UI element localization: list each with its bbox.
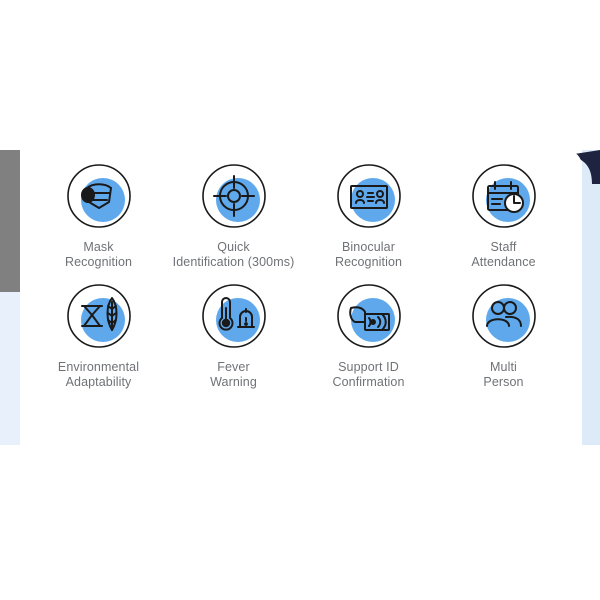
feature-card: Mask RecognitionQuick Identification (30… <box>20 150 582 445</box>
id-card-people-icon <box>335 162 403 230</box>
feature-label: Binocular Recognition <box>335 240 402 270</box>
feature-label: Environmental Adaptability <box>58 360 139 390</box>
right-blue-edge-bar <box>582 150 600 445</box>
feature-item[interactable]: Staff Attendance <box>436 162 571 270</box>
feature-label: Multi Person <box>483 360 523 390</box>
group-people-icon <box>470 282 538 350</box>
feature-item[interactable]: Multi Person <box>436 282 571 390</box>
feature-label: Fever Warning <box>210 360 257 390</box>
feature-item[interactable]: Support ID Confirmation <box>301 282 436 390</box>
feature-label: Staff Attendance <box>471 240 535 270</box>
feature-label: Mask Recognition <box>65 240 132 270</box>
calendar-clock-icon <box>470 162 538 230</box>
feature-item[interactable]: Binocular Recognition <box>301 162 436 270</box>
feature-item[interactable]: Quick Identification (300ms) <box>166 162 301 270</box>
thermometer-alarm-icon <box>200 282 268 350</box>
left-gray-edge-bar <box>0 150 20 292</box>
hourglass-feather-icon <box>65 282 133 350</box>
hand-rfid-card-icon <box>335 282 403 350</box>
left-blue-edge-bar <box>0 292 20 445</box>
feature-label: Support ID Confirmation <box>332 360 404 390</box>
feature-grid: Mask RecognitionQuick Identification (30… <box>31 162 571 390</box>
crosshair-target-icon <box>200 162 268 230</box>
face-mask-icon <box>65 162 133 230</box>
feature-label: Quick Identification (300ms) <box>173 240 295 270</box>
feature-item[interactable]: Fever Warning <box>166 282 301 390</box>
feature-item[interactable]: Environmental Adaptability <box>31 282 166 390</box>
screenshot-stage: Mask RecognitionQuick Identification (30… <box>0 0 600 600</box>
feature-item[interactable]: Mask Recognition <box>31 162 166 270</box>
